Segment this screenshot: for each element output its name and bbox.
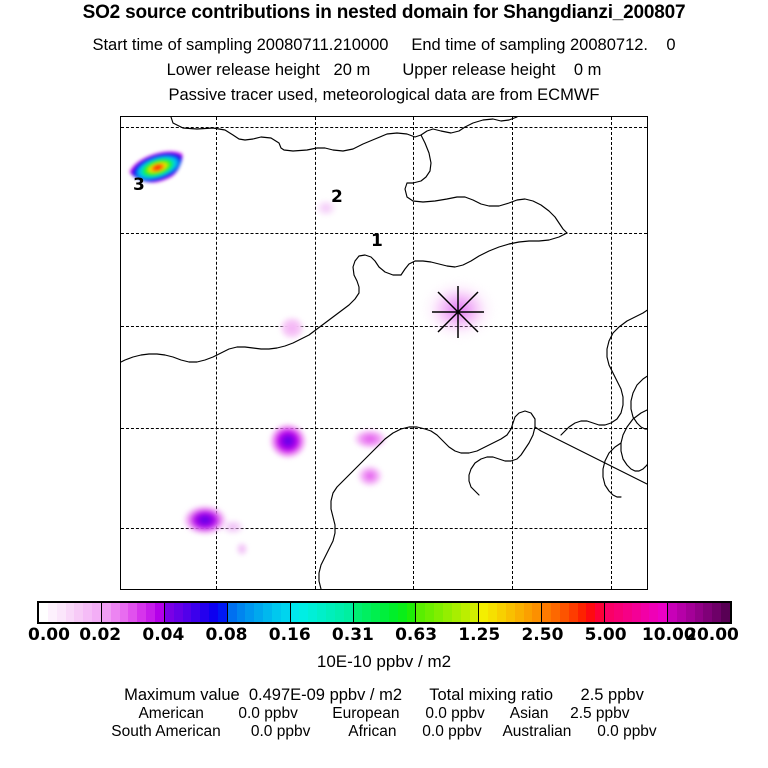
colorbar-tick-label: 0.16 <box>269 625 311 645</box>
stat-row-continents-2: South American 0.0 ppbv African 0.0 ppbv… <box>0 723 768 741</box>
colorbar-step <box>299 603 308 622</box>
colorbar-step <box>605 603 614 622</box>
gridline-vertical <box>413 117 414 589</box>
colorbar-tick-label: 20.00 <box>685 625 739 645</box>
colorbar-step <box>703 603 712 622</box>
colorbar-step <box>335 603 344 622</box>
colorbar-step <box>57 603 66 622</box>
colorbar-step <box>200 603 209 622</box>
colorbar-step <box>623 603 632 622</box>
colorbar-step <box>416 603 425 622</box>
colorbar-step <box>102 603 111 622</box>
plume-main <box>121 117 183 183</box>
colorbar-step <box>39 603 48 622</box>
colorbar-step <box>146 603 155 622</box>
colorbar-step <box>174 603 183 622</box>
gridline-horizontal <box>121 326 647 327</box>
colorbar-step <box>488 603 497 622</box>
gridline-horizontal <box>121 233 647 234</box>
colorbar-step <box>532 603 541 622</box>
colorbar-step <box>111 603 120 622</box>
colorbar-tick-label: 0.00 <box>28 625 70 645</box>
colorbar-step <box>695 603 704 622</box>
colorbar-step <box>228 603 237 622</box>
colorbar-step <box>434 603 443 622</box>
colorbar-step <box>658 603 667 622</box>
sampling-time-line: Start time of sampling 20080711.210000 E… <box>0 36 768 55</box>
tracer-info-line: Passive tracer used, meteorological data… <box>0 86 768 105</box>
colorbar-tick-label: 5.00 <box>585 625 627 645</box>
colorbar-step <box>237 603 246 622</box>
colorbar-band <box>165 603 228 622</box>
map-plot-area: 3 2 1 <box>120 116 648 590</box>
colorbar-step <box>479 603 488 622</box>
colorbar-step <box>66 603 75 622</box>
colorbar-step <box>281 603 290 622</box>
colorbar-step <box>183 603 192 622</box>
colorbar-band <box>605 603 668 622</box>
colorbar-step <box>641 603 650 622</box>
colorbar-step <box>506 603 515 622</box>
colorbar-step <box>92 603 101 622</box>
colorbar-step <box>371 603 380 622</box>
colorbar-step <box>497 603 506 622</box>
plume-blob-secondary <box>279 316 305 340</box>
colorbar-step <box>326 603 335 622</box>
colorbar-step <box>317 603 326 622</box>
region-label-2: 2 <box>331 189 343 206</box>
gridline-horizontal <box>121 127 647 128</box>
colorbar-step <box>83 603 92 622</box>
colorbar-step <box>425 603 434 622</box>
colorbar-step <box>389 603 398 622</box>
colorbar-step <box>218 603 227 622</box>
colorbar-step <box>380 603 389 622</box>
release-height-line: Lower release height 20 m Upper release … <box>0 61 768 80</box>
plume-blob-secondary <box>221 519 245 535</box>
colorbar-band <box>354 603 417 622</box>
statistics-block: Maximum value 0.497E-09 ppbv / m2 Total … <box>0 686 768 741</box>
colorbar-step <box>344 603 353 622</box>
colorbar-unit-label: 10E-10 ppbv / m2 <box>0 652 768 672</box>
colorbar-step <box>649 603 658 622</box>
colorbar-step <box>155 603 164 622</box>
plume-blob-secondary <box>235 541 249 557</box>
colorbar-step <box>308 603 317 622</box>
colorbar-tick-label: 0.02 <box>79 625 121 645</box>
colorbar-step <box>120 603 129 622</box>
colorbar-step <box>470 603 479 622</box>
coastline-overlay <box>121 117 648 590</box>
colorbar-step <box>515 603 524 622</box>
colorbar-band <box>416 603 479 622</box>
colorbar-band <box>542 603 605 622</box>
colorbar-step <box>354 603 363 622</box>
colorbar-step <box>551 603 560 622</box>
region-label-1: 1 <box>371 233 383 250</box>
colorbar-step <box>595 603 604 622</box>
colorbar-step <box>614 603 623 622</box>
colorbar-tick-label: 0.31 <box>332 625 374 645</box>
gridline-vertical <box>512 117 513 589</box>
colorbar-band <box>291 603 354 622</box>
release-site-star <box>430 284 486 340</box>
colorbar-band <box>102 603 165 622</box>
colorbar-step <box>263 603 272 622</box>
colorbar-band <box>668 603 730 622</box>
colorbar-band <box>39 603 102 622</box>
page-title: SO2 source contributions in nested domai… <box>0 2 768 24</box>
stat-row-continents-1: American 0.0 ppbv European 0.0 ppbv Asia… <box>0 705 768 723</box>
gridline-vertical <box>315 117 316 589</box>
colorbar-step <box>578 603 587 622</box>
plume-blob-secondary <box>353 429 387 449</box>
colorbar <box>37 601 732 624</box>
colorbar-step <box>677 603 686 622</box>
colorbar-step <box>128 603 137 622</box>
colorbar-tick-labels: 0.000.020.040.080.160.310.631.252.505.00… <box>0 625 768 647</box>
map-canvas: 3 2 1 <box>121 117 647 589</box>
colorbar-step <box>721 603 730 622</box>
colorbar-step <box>74 603 83 622</box>
colorbar-band <box>228 603 291 622</box>
colorbar-step <box>48 603 57 622</box>
colorbar-band <box>479 603 542 622</box>
gridline-horizontal <box>121 428 647 429</box>
colorbar-step <box>362 603 371 622</box>
colorbar-step <box>586 603 595 622</box>
colorbar-tick-label: 1.25 <box>458 625 500 645</box>
colorbar-step <box>632 603 641 622</box>
plume-blob-secondary <box>183 505 227 535</box>
colorbar-step <box>245 603 254 622</box>
colorbar-tick-label: 2.50 <box>521 625 563 645</box>
colorbar-tick-label: 0.08 <box>206 625 248 645</box>
region-label-3: 3 <box>133 177 145 194</box>
colorbar-step <box>272 603 281 622</box>
colorbar-step <box>686 603 695 622</box>
colorbar-step <box>452 603 461 622</box>
colorbar-tick-label: 0.04 <box>142 625 184 645</box>
colorbar-step <box>461 603 470 622</box>
stat-row-maximum: Maximum value 0.497E-09 ppbv / m2 Total … <box>0 686 768 705</box>
colorbar-step <box>137 603 146 622</box>
colorbar-step <box>712 603 721 622</box>
colorbar-step <box>569 603 578 622</box>
colorbar-step <box>542 603 551 622</box>
colorbar-step <box>209 603 218 622</box>
colorbar-step <box>560 603 569 622</box>
colorbar-step <box>291 603 300 622</box>
colorbar-step <box>443 603 452 622</box>
colorbar-step <box>524 603 533 622</box>
gridline-horizontal <box>121 528 647 529</box>
colorbar-step <box>191 603 200 622</box>
colorbar-step <box>254 603 263 622</box>
gridline-vertical <box>216 117 217 589</box>
colorbar-step <box>165 603 174 622</box>
colorbar-step <box>398 603 407 622</box>
plume-blob-secondary <box>357 465 383 487</box>
colorbar-step <box>668 603 677 622</box>
plume-halo <box>421 259 503 341</box>
colorbar-tick-label: 0.63 <box>395 625 437 645</box>
colorbar-step <box>407 603 416 622</box>
gridline-vertical <box>611 117 612 589</box>
